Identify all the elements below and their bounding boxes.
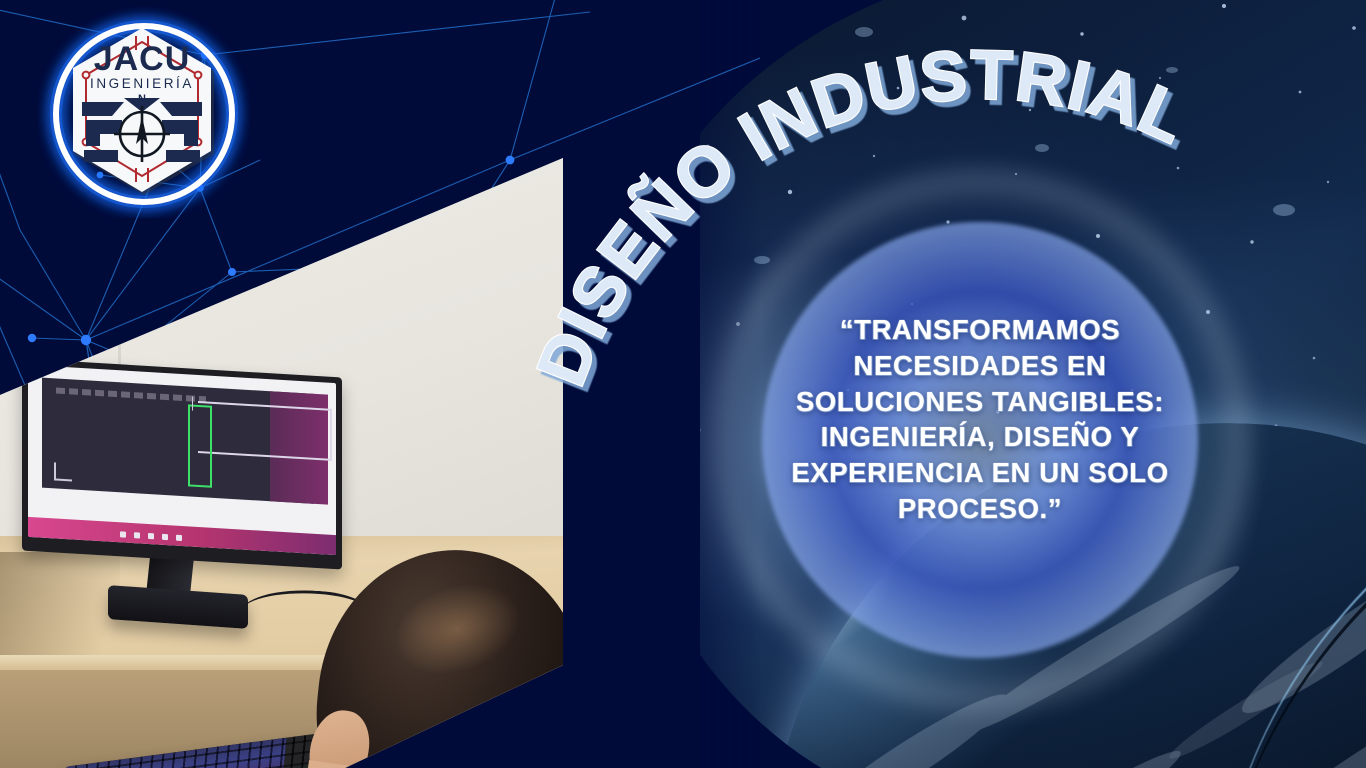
jacu-logo[interactable]: JACU INGENIERÍA N	[38, 6, 250, 218]
cad-guide-line	[192, 397, 193, 411]
quote-line-4: INGENIERÍA, DISEÑO Y	[760, 419, 1200, 455]
cad-ucs-icon	[54, 462, 72, 481]
quote-line-5: EXPERIENCIA EN UN SOLO	[760, 455, 1200, 491]
taskbar-icon	[120, 531, 126, 537]
cad-shape-selected	[188, 404, 212, 487]
logo-subtitle: INGENIERÍA	[90, 76, 194, 91]
quote-line-1: “TRANSFORMAMOS	[760, 312, 1200, 348]
monitor-screen	[28, 365, 336, 555]
cad-shape-white	[198, 401, 332, 461]
cad-viewport	[42, 378, 314, 504]
poster-canvas: JACU INGENIERÍA N DISEÑO INDUSTR	[0, 0, 1366, 768]
taskbar-icon	[134, 532, 140, 538]
quote-line-6: PROCESO.”	[760, 491, 1200, 527]
taskbar-icon	[148, 533, 154, 539]
compass-north-label: N	[138, 93, 146, 105]
quote-line-3: SOLUCIONES TANGIBLES:	[760, 384, 1200, 420]
taskbar-icon	[176, 535, 182, 541]
taskbar-icon	[162, 534, 168, 540]
logo-wordmark: JACU	[94, 40, 191, 78]
quote-block: “TRANSFORMAMOS NECESIDADES EN SOLUCIONES…	[760, 312, 1200, 527]
cad-toolbar	[56, 388, 206, 403]
quote-line-2: NECESIDADES EN	[760, 348, 1200, 384]
